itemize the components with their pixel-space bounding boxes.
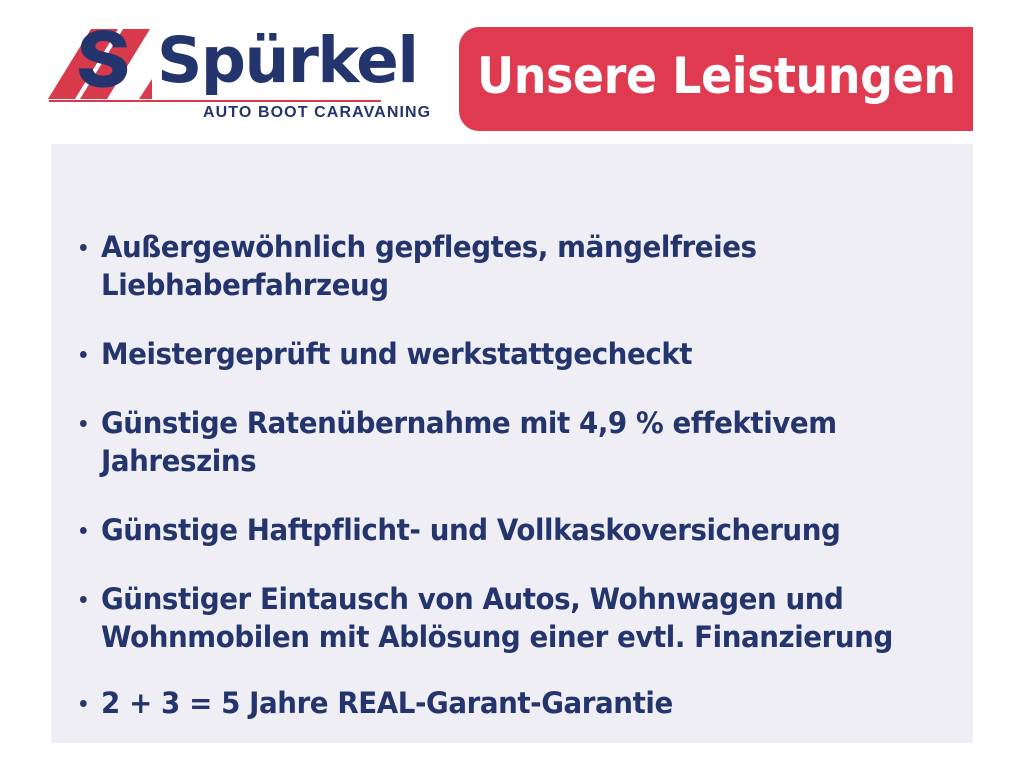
list-item-label: Außergewöhnlich gepflegtes, mängelfreies… xyxy=(101,230,757,302)
list-item: Günstiger Eintausch von Autos, Wohnwagen… xyxy=(80,580,904,656)
brand-tagline: AUTO BOOT CARAVANING xyxy=(203,104,381,122)
bullet-dot-icon xyxy=(80,420,87,427)
bullet-dot-icon xyxy=(80,244,87,251)
bullet-dot-icon xyxy=(80,351,87,358)
spuerkel-s-monogram-icon xyxy=(47,28,153,100)
slide-canvas: Spürkel AUTO BOOT CARAVANING Unsere Leis… xyxy=(0,0,1024,768)
bullet-dot-icon xyxy=(80,527,87,534)
list-item: Günstige Ratenübernahme mit 4,9 % effekt… xyxy=(80,404,904,480)
brand-wordmark: Spürkel xyxy=(157,24,417,98)
services-bullet-list: Außergewöhnlich gepflegtes, mängelfreies… xyxy=(80,228,943,722)
bullet-dot-icon xyxy=(80,596,87,603)
list-item: Günstige Haftpflicht- und Vollkaskoversi… xyxy=(80,511,904,549)
list-item-label: Günstiger Eintausch von Autos, Wohnwagen… xyxy=(101,582,893,654)
title-banner: Unsere Leistungen xyxy=(459,27,973,131)
list-item-label: 2 + 3 = 5 Jahre REAL-Garant-Garantie xyxy=(101,686,673,720)
bullet-dot-icon xyxy=(80,700,87,707)
list-item-label: Günstige Haftpflicht- und Vollkaskoversi… xyxy=(101,513,840,547)
list-item-label: Meistergeprüft und werkstattgecheckt xyxy=(101,337,692,371)
list-item: Meistergeprüft und werkstattgecheckt xyxy=(80,335,904,373)
list-item-label: Günstige Ratenübernahme mit 4,9 % effekt… xyxy=(101,406,837,478)
list-item: 2 + 3 = 5 Jahre REAL-Garant-Garantie xyxy=(80,684,904,722)
brand-logo: Spürkel AUTO BOOT CARAVANING xyxy=(47,24,447,134)
page-title: Unsere Leistungen xyxy=(477,50,956,102)
list-item: Außergewöhnlich gepflegtes, mängelfreies… xyxy=(80,228,904,304)
content-panel: Außergewöhnlich gepflegtes, mängelfreies… xyxy=(51,144,973,743)
logo-divider-rule xyxy=(49,100,381,102)
